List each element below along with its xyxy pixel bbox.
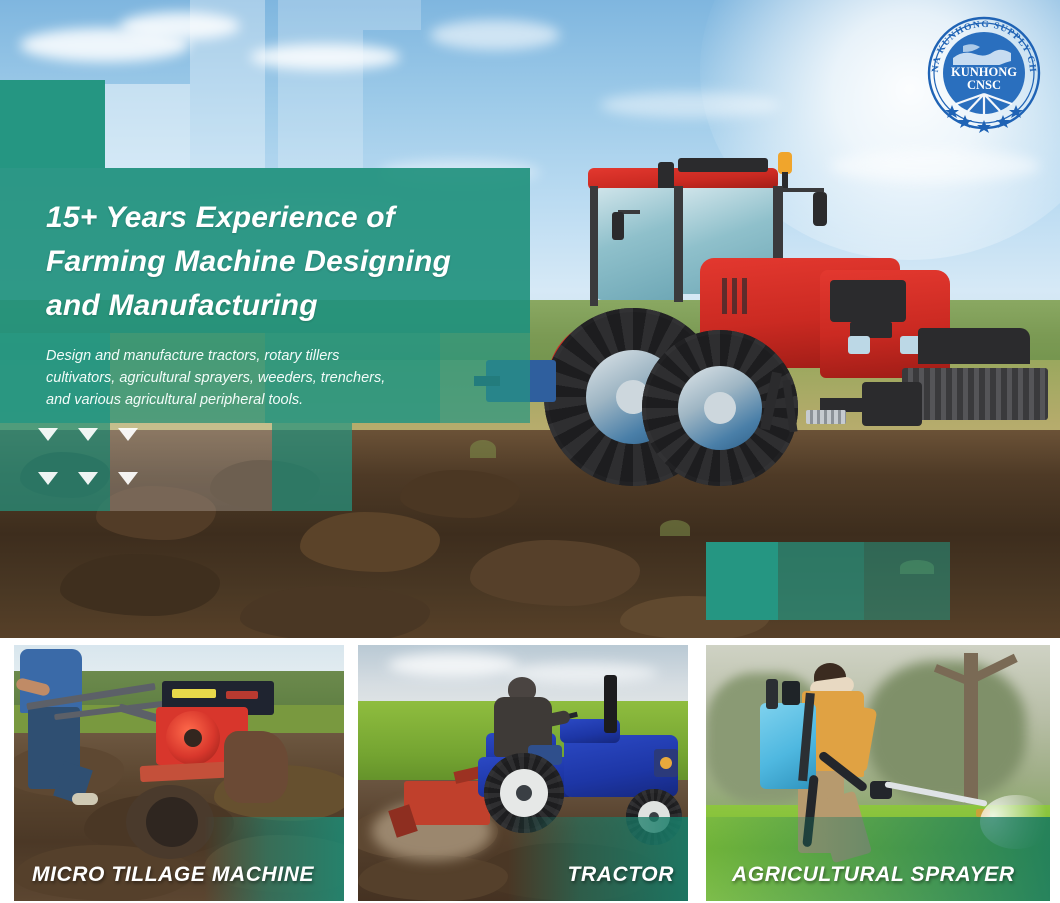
farmer-boot [72,793,98,805]
card-caption-tractor: TRACTOR [568,863,674,887]
tiller-decal [172,689,216,698]
triangle-down-icon [118,472,138,485]
decor-block [190,0,265,168]
soil-clump [240,586,430,638]
headline-line-2: Farming Machine Designing [46,240,546,284]
triangle-down-icon [78,428,98,441]
triangle-decoration [38,428,142,498]
decor-block [190,423,272,511]
headlight [660,757,672,769]
headline-line-3: and Manufacturing [46,284,546,328]
front-weight [902,368,1048,420]
soil-clump [300,512,440,572]
decor-block [778,542,864,620]
soil-clump [470,540,640,606]
triangle-down-icon [38,428,58,441]
triangle-down-icon [38,472,58,485]
grass-tuft [470,440,496,458]
product-card-agricultural-sprayer[interactable]: AGRICULTURAL SPRAYER [706,645,1050,901]
decor-block [278,82,363,168]
company-logo: KUNHONG CNSC CHINA KUNHONG SUPPLY CHAIN [923,12,1045,134]
beacon-light [778,152,792,174]
headline-line-1: 15+ Years Experience of [46,196,546,240]
card-caption-agricultural-sprayer: AGRICULTURAL SPRAYER [732,863,1015,887]
soil-clump [400,470,520,518]
decor-block [706,542,778,620]
hero-banner: 15+ Years Experience of Farming Machine … [0,0,1060,638]
sprayer-cap [782,681,800,705]
product-card-tractor[interactable]: TRACTOR [358,645,688,901]
product-card-row: MICRO TILLAGE MACHINE [0,645,1060,903]
decor-block [864,542,950,620]
tiller-pulley [184,729,202,747]
decor-block [363,0,421,30]
cloud [600,92,780,118]
decor-block [105,84,190,168]
logo-name-line2: CNSC [967,78,1001,92]
card-caption-micro-tillage-machine: MICRO TILLAGE MACHINE [32,863,314,887]
red-tractor-illustration [530,130,1060,530]
decor-block [278,0,363,82]
sprayer-pump-lever [766,679,778,709]
caption-gradient-band [508,817,688,901]
tiller-tine-cluster [224,731,288,803]
logo-name-line1: KUNHONG [951,65,1017,79]
product-card-micro-tillage-machine[interactable]: MICRO TILLAGE MACHINE [14,645,344,901]
subcopy-line-1: Design and manufacture tractors, rotary … [46,345,466,367]
subcopy-line-3: and various agricultural peripheral tool… [46,389,466,411]
soil-clump [60,554,220,616]
subcopy-line-2: cultivators, agricultural sprayers, weed… [46,367,466,389]
tiller-hub [146,797,198,847]
page-title: 15+ Years Experience of Farming Machine … [46,196,546,328]
soil-clump [358,855,508,901]
background-foliage [866,661,1026,801]
rear-hub [516,785,532,801]
exhaust-stack [604,675,617,733]
tractor-step [806,410,846,424]
triangle-down-icon [118,428,138,441]
triangle-down-icon [78,472,98,485]
cloud [430,20,560,50]
hero-description: Design and manufacture tractors, rotary … [46,345,466,411]
caption-gradient-band [706,817,1050,901]
decor-block [272,423,352,511]
caption-gradient-band [204,817,344,901]
decor-block [0,80,105,168]
headlight [848,336,870,354]
tiller-decal [226,691,258,699]
cloud [388,653,518,677]
